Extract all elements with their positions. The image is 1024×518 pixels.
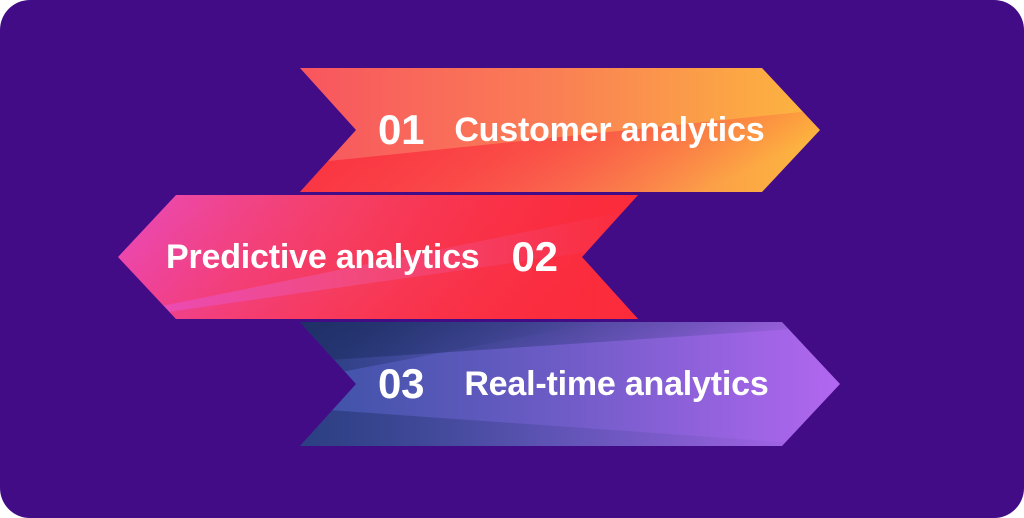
banner-item-3[interactable]: 03 Real-time analytics: [300, 322, 840, 446]
banner-1-shape: [300, 68, 820, 192]
diagram-card: 01 Customer analytics: [0, 0, 1024, 518]
banner-2-shape: [118, 195, 638, 319]
diagram-canvas: 01 Customer analytics: [0, 0, 1024, 518]
banner-item-1[interactable]: 01 Customer analytics: [300, 68, 820, 192]
banner-3-shape: [300, 322, 840, 446]
banner-item-2[interactable]: Predictive analytics 02: [118, 195, 638, 319]
